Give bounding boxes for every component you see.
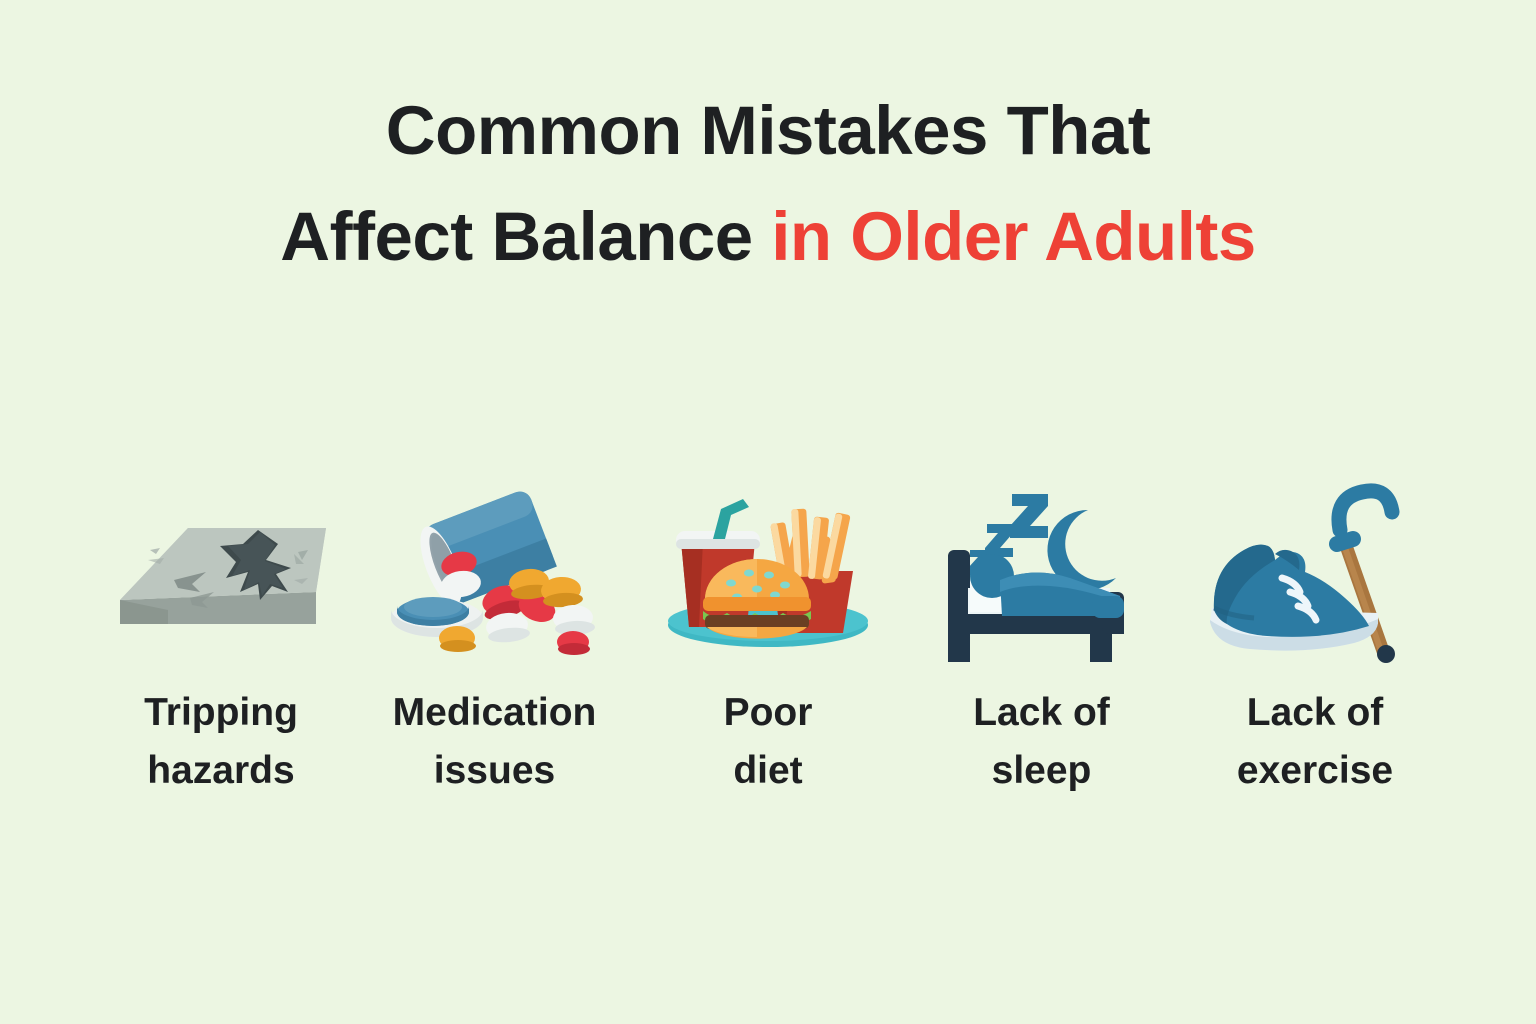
mistake-card-label: Lack of sleep: [973, 684, 1110, 800]
label-line-2: hazards: [147, 749, 294, 792]
mistake-card-lack-of-exercise: Lack of exercise: [1190, 478, 1440, 800]
title-line-2: Affect Balance in Older Adults: [0, 184, 1536, 290]
mistake-card-poor-diet: Poor diet: [643, 478, 893, 800]
mistake-card-tripping-hazards: Tripping hazards: [96, 478, 346, 800]
label-line-1: Medication: [393, 691, 597, 734]
page-title: Common Mistakes That Affect Balance in O…: [0, 78, 1536, 290]
mistake-card-label: Poor diet: [724, 684, 813, 800]
mistake-card-lack-of-sleep: Lack of sleep: [917, 478, 1167, 800]
label-line-1: Lack of: [973, 691, 1110, 734]
label-line-2: sleep: [992, 749, 1092, 792]
label-line-1: Tripping: [144, 691, 298, 734]
mistake-card-medication-issues: Medication issues: [370, 478, 620, 800]
sneaker-and-walking-cane-icon: [1200, 478, 1430, 668]
cracked-paving-slab-icon: [106, 478, 336, 668]
label-line-2: exercise: [1237, 749, 1393, 792]
spilled-pill-bottle-icon: [380, 478, 610, 668]
label-line-1: Poor: [724, 691, 813, 734]
mistake-card-label: Tripping hazards: [144, 684, 298, 800]
mistake-card-row: Tripping hazards: [96, 478, 1440, 800]
label-line-2: issues: [434, 749, 555, 792]
label-line-1: Lack of: [1247, 691, 1384, 734]
mistake-card-label: Medication issues: [393, 684, 597, 800]
infographic-poster: Common Mistakes That Affect Balance in O…: [0, 0, 1536, 1024]
title-line-2-plain: Affect Balance: [280, 198, 771, 275]
title-line-2-accent: in Older Adults: [771, 198, 1255, 275]
title-line-1: Common Mistakes That: [0, 78, 1536, 184]
mistake-card-label: Lack of exercise: [1237, 684, 1393, 800]
fast-food-meal-icon: [653, 478, 883, 668]
label-line-2: diet: [733, 749, 802, 792]
person-sleeping-in-bed-icon: [927, 478, 1157, 668]
